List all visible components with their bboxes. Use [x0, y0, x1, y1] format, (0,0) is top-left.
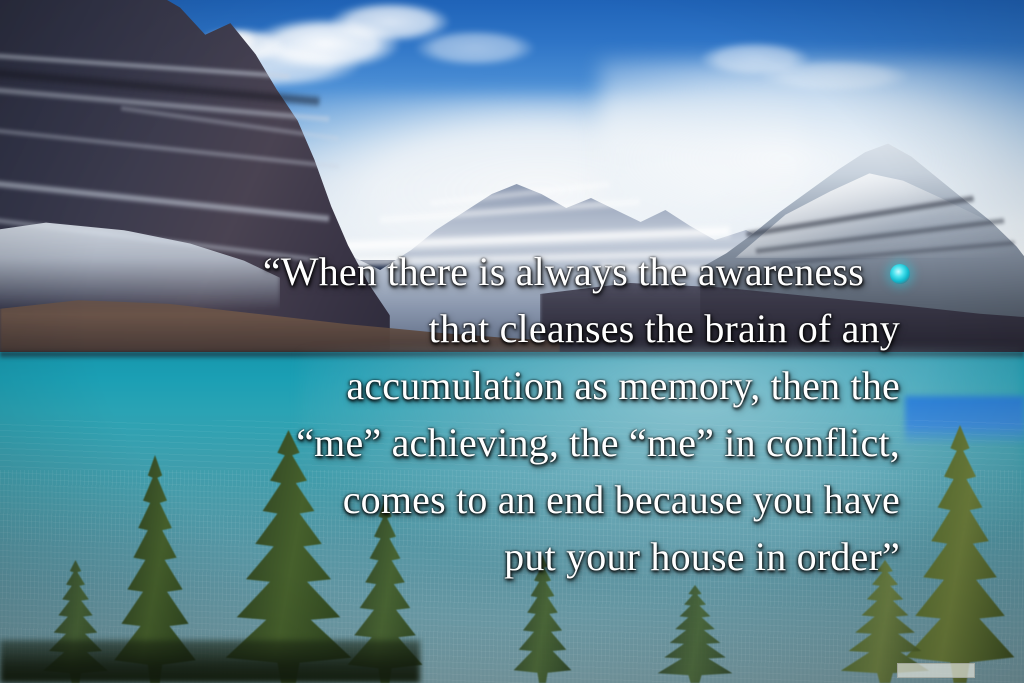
cloud	[415, 30, 535, 66]
conifer-tree	[500, 555, 585, 683]
scene-photograph	[0, 0, 1024, 683]
watermark-badge	[897, 663, 975, 678]
foreground-foliage	[0, 640, 420, 683]
video-frame: “When there is always the awareness that…	[0, 0, 1024, 683]
tree-foliage	[640, 585, 750, 683]
cyan-dot-cursor-icon[interactable]	[890, 264, 910, 284]
tree-foliage	[500, 555, 585, 683]
conifer-tree	[640, 585, 750, 683]
